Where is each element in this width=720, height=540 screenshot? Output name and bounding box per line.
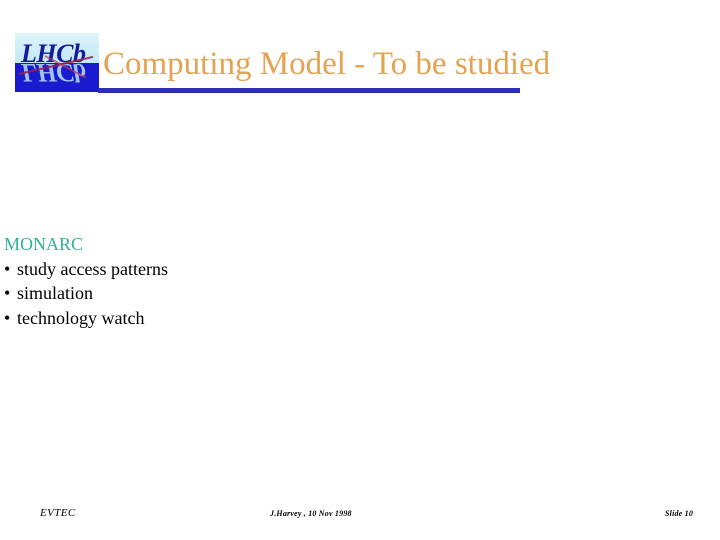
slide-header: LHCb LHCb Computing Model - To be studie… [0, 0, 720, 100]
slide-canvas: LHCb LHCb Computing Model - To be studie… [0, 0, 720, 540]
footer-slide-number: Slide 10 [665, 509, 693, 518]
slide-footer: EVTEC J.Harvey , 10 Nov 1998 Slide 10 [0, 500, 720, 540]
footer-context-label: EVTEC [40, 507, 76, 519]
bullet-item: simulation [4, 281, 624, 306]
footer-author-date: J.Harvey , 10 Nov 1998 [270, 509, 352, 518]
bullet-item: technology watch [4, 306, 624, 331]
slide-body: MONARC study access patterns simulation … [4, 232, 624, 330]
page-title: Computing Model - To be studied [103, 44, 550, 84]
lhcb-logo: LHCb LHCb [15, 33, 99, 92]
title-divider [98, 88, 520, 93]
content-heading: MONARC [4, 232, 624, 257]
bullet-item: study access patterns [4, 257, 624, 282]
